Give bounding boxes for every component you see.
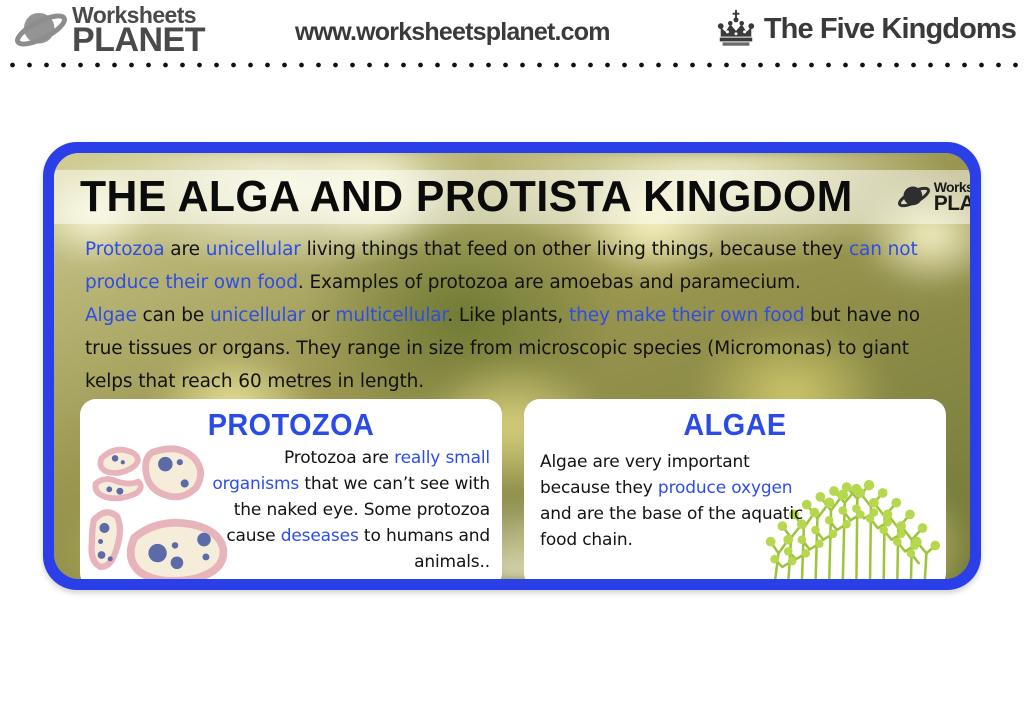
card-algae-body: Algae are very important because they pr…	[540, 443, 816, 553]
page-title: THE ALGA AND PROTISTA KINGDOM	[80, 172, 853, 222]
worksheet-body: Protozoa are unicellular living things t…	[85, 233, 953, 398]
card-protozoa-title: PROTOZOA	[95, 399, 487, 443]
card-algae: ALGAE	[524, 399, 946, 579]
info-cards: PROTOZOA	[80, 399, 946, 579]
card-protozoa: PROTOZOA	[80, 399, 502, 579]
planet-icon	[897, 181, 931, 213]
card-algae-title: ALGAE	[539, 399, 931, 443]
inline-brand-logo: Worksheets PLANET	[897, 181, 970, 213]
crown-icon	[714, 8, 758, 50]
worksheet-title-bar: THE ALGA AND PROTISTA KINGDOM Worksheets…	[54, 170, 970, 224]
dotted-divider	[0, 60, 1024, 70]
inline-logo-line2: PLANET	[934, 195, 970, 212]
brand-logo-line2: PLANET	[72, 26, 205, 55]
card-protozoa-body: Protozoa are really small organisms that…	[205, 443, 490, 575]
brand-logo: Worksheets PLANET	[14, 4, 205, 56]
worksheet-frame: THE ALGA AND PROTISTA KINGDOM Worksheets…	[43, 142, 981, 590]
paragraph-protozoa: Protozoa are unicellular living things t…	[85, 233, 953, 299]
section-title: The Five Kingdoms	[764, 13, 1016, 46]
paragraph-algae: Algae can be unicellular or multicellula…	[85, 299, 953, 398]
planet-icon	[14, 4, 68, 56]
site-url: www.worksheetsplanet.com	[295, 18, 610, 47]
page-header: Worksheets PLANET www.worksheetsplanet.c…	[0, 0, 1024, 58]
worksheet-canvas: THE ALGA AND PROTISTA KINGDOM Worksheets…	[54, 153, 970, 579]
section-header: The Five Kingdoms	[714, 8, 1016, 50]
